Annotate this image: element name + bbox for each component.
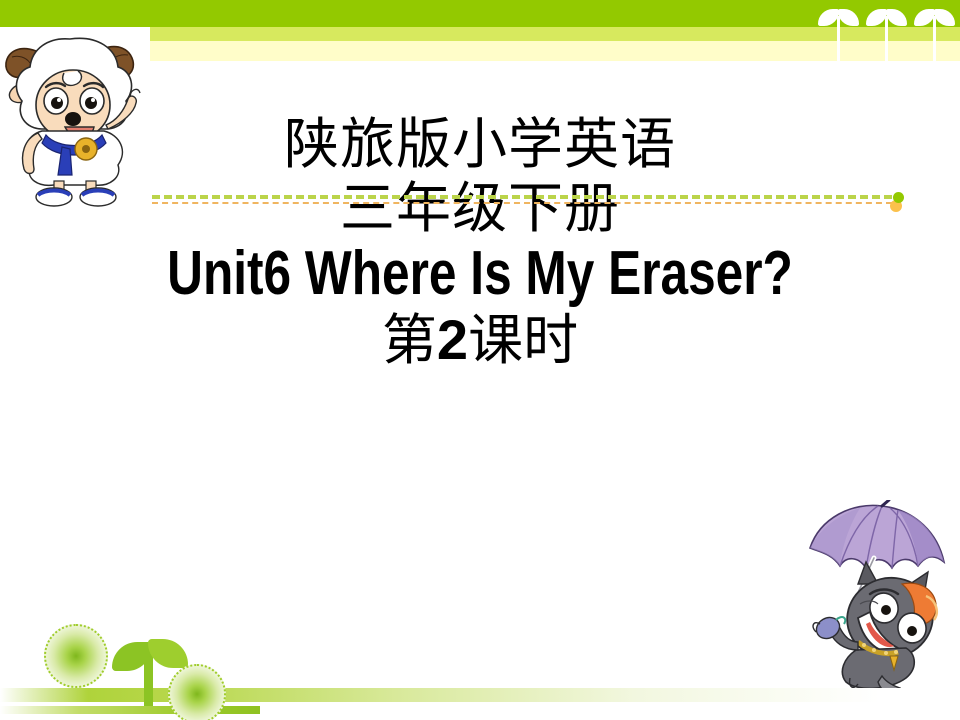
sprout-leaf-right xyxy=(838,9,859,26)
big-big-wolf-with-umbrella-icon xyxy=(786,500,960,688)
title-line-textbook: 陕旅版小学英语 xyxy=(0,112,960,176)
divider-green-dot xyxy=(893,192,904,203)
presentation-slide: 陕旅版小学英语 三年级下册 Unit6 Where Is My Eraser? … xyxy=(0,0,960,720)
decorative-bubble xyxy=(44,624,108,688)
big-big-wolf-with-umbrella-character xyxy=(786,500,960,688)
header-sprout-group xyxy=(818,0,960,62)
session-suffix: 课时 xyxy=(468,308,578,372)
sprout-icon xyxy=(866,4,908,62)
divider-orange-dash-line xyxy=(152,202,892,204)
sprout-stem xyxy=(837,16,840,62)
title-line-grade: 三年级下册 xyxy=(0,176,960,240)
dashed-divider xyxy=(152,192,892,206)
sprout-icon xyxy=(914,4,956,62)
sprout-stem xyxy=(933,16,936,62)
header-green-band xyxy=(0,0,960,27)
sprout-leaf-right xyxy=(934,9,955,26)
title-block: 陕旅版小学英语 三年级下册 Unit6 Where Is My Eraser? … xyxy=(0,112,960,372)
sprout-icon xyxy=(818,4,860,62)
sprout-leaf-right xyxy=(148,639,188,668)
sprout-stem xyxy=(885,16,888,62)
session-prefix: 第 xyxy=(382,308,437,372)
decorative-bubble xyxy=(168,664,226,720)
sprout-leaf-left xyxy=(866,9,887,26)
divider-green-dash-line xyxy=(152,195,892,199)
sprout-leaf-left xyxy=(914,9,935,26)
title-line-session: 第2课时 xyxy=(0,308,960,372)
sprout-leaf-right xyxy=(886,9,907,26)
sprout-leaf-left xyxy=(818,9,839,26)
session-number: 2 xyxy=(437,308,468,371)
title-line-unit: Unit6 Where Is My Eraser? xyxy=(96,240,864,308)
